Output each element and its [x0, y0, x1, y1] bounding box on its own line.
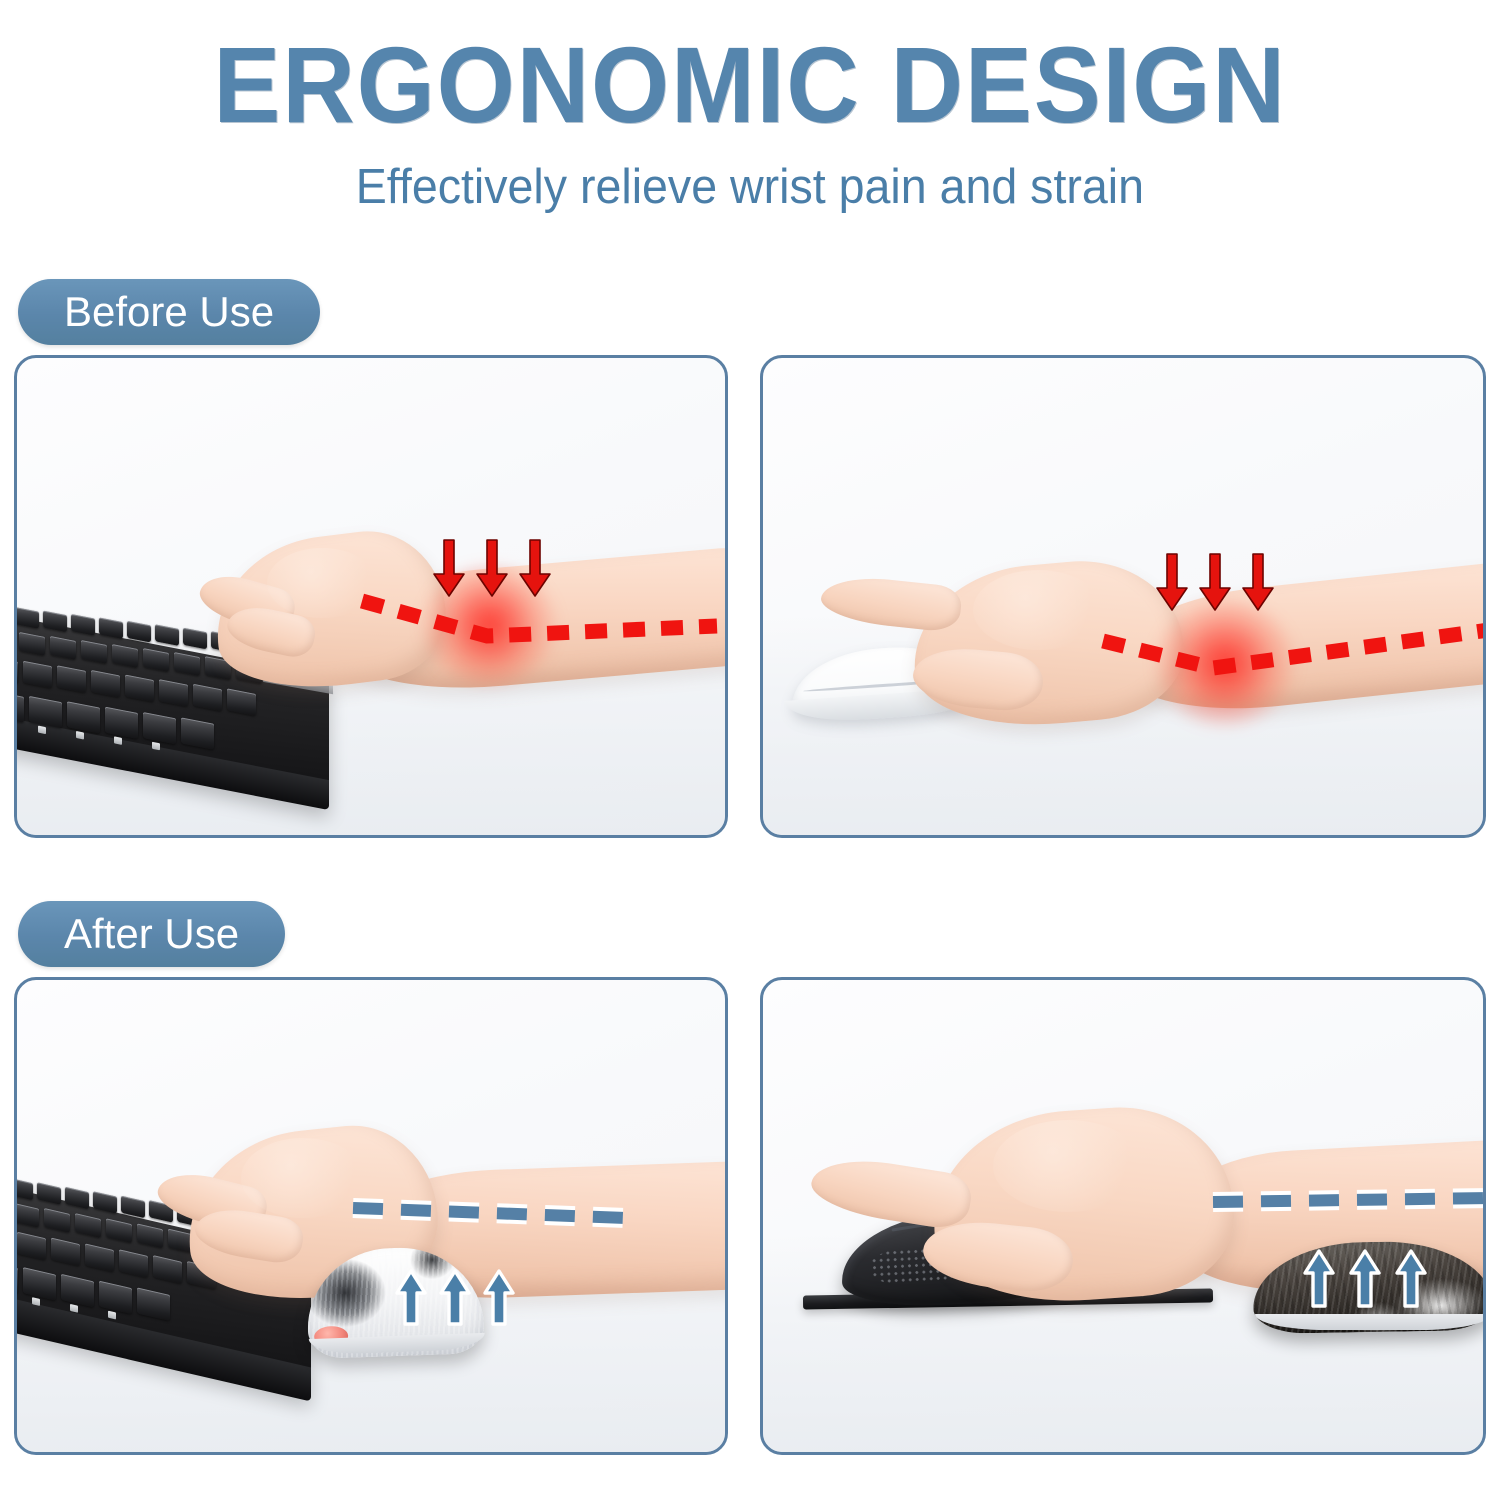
- wrist-line-bent-red: [17, 358, 728, 838]
- ergonomic-design-infographic: ERGONOMIC DESIGN Effectively relieve wri…: [0, 0, 1500, 1504]
- pressure-arrow-down-1: [1155, 552, 1189, 614]
- pressure-arrow-down-2: [1198, 552, 1232, 614]
- panel-after-mouse: [760, 977, 1486, 1455]
- scene-before-keyboard: [17, 358, 725, 835]
- badge-after-use: After Use: [18, 901, 285, 967]
- scene-after-keyboard: [17, 980, 725, 1452]
- badge-before-use: Before Use: [18, 279, 320, 345]
- pressure-arrow-down-3: [518, 538, 552, 600]
- header: ERGONOMIC DESIGN Effectively relieve wri…: [0, 0, 1500, 240]
- support-arrow-up-3: [483, 1268, 515, 1328]
- pressure-arrow-down-1: [432, 538, 466, 600]
- page-subtitle: Effectively relieve wrist pain and strai…: [356, 159, 1144, 215]
- wrist-line-straight-blue: [17, 980, 728, 1455]
- support-arrow-up-1: [1303, 1248, 1335, 1310]
- panel-before-keyboard: [14, 355, 728, 838]
- wrist-line-bent-red: [763, 358, 1486, 838]
- support-arrow-up-3: [1395, 1248, 1427, 1310]
- support-arrow-up-2: [439, 1268, 471, 1328]
- page-title: ERGONOMIC DESIGN: [213, 28, 1286, 141]
- support-arrow-up-2: [1349, 1248, 1381, 1310]
- wrist-line-straight-blue: [763, 980, 1486, 1455]
- panel-after-keyboard: [14, 977, 728, 1455]
- scene-after-mouse: [763, 980, 1483, 1452]
- support-arrow-up-1: [395, 1268, 427, 1328]
- pressure-arrow-down-2: [475, 538, 509, 600]
- scene-before-mouse: [763, 358, 1483, 835]
- pressure-arrow-down-3: [1241, 552, 1275, 614]
- panel-before-mouse: [760, 355, 1486, 838]
